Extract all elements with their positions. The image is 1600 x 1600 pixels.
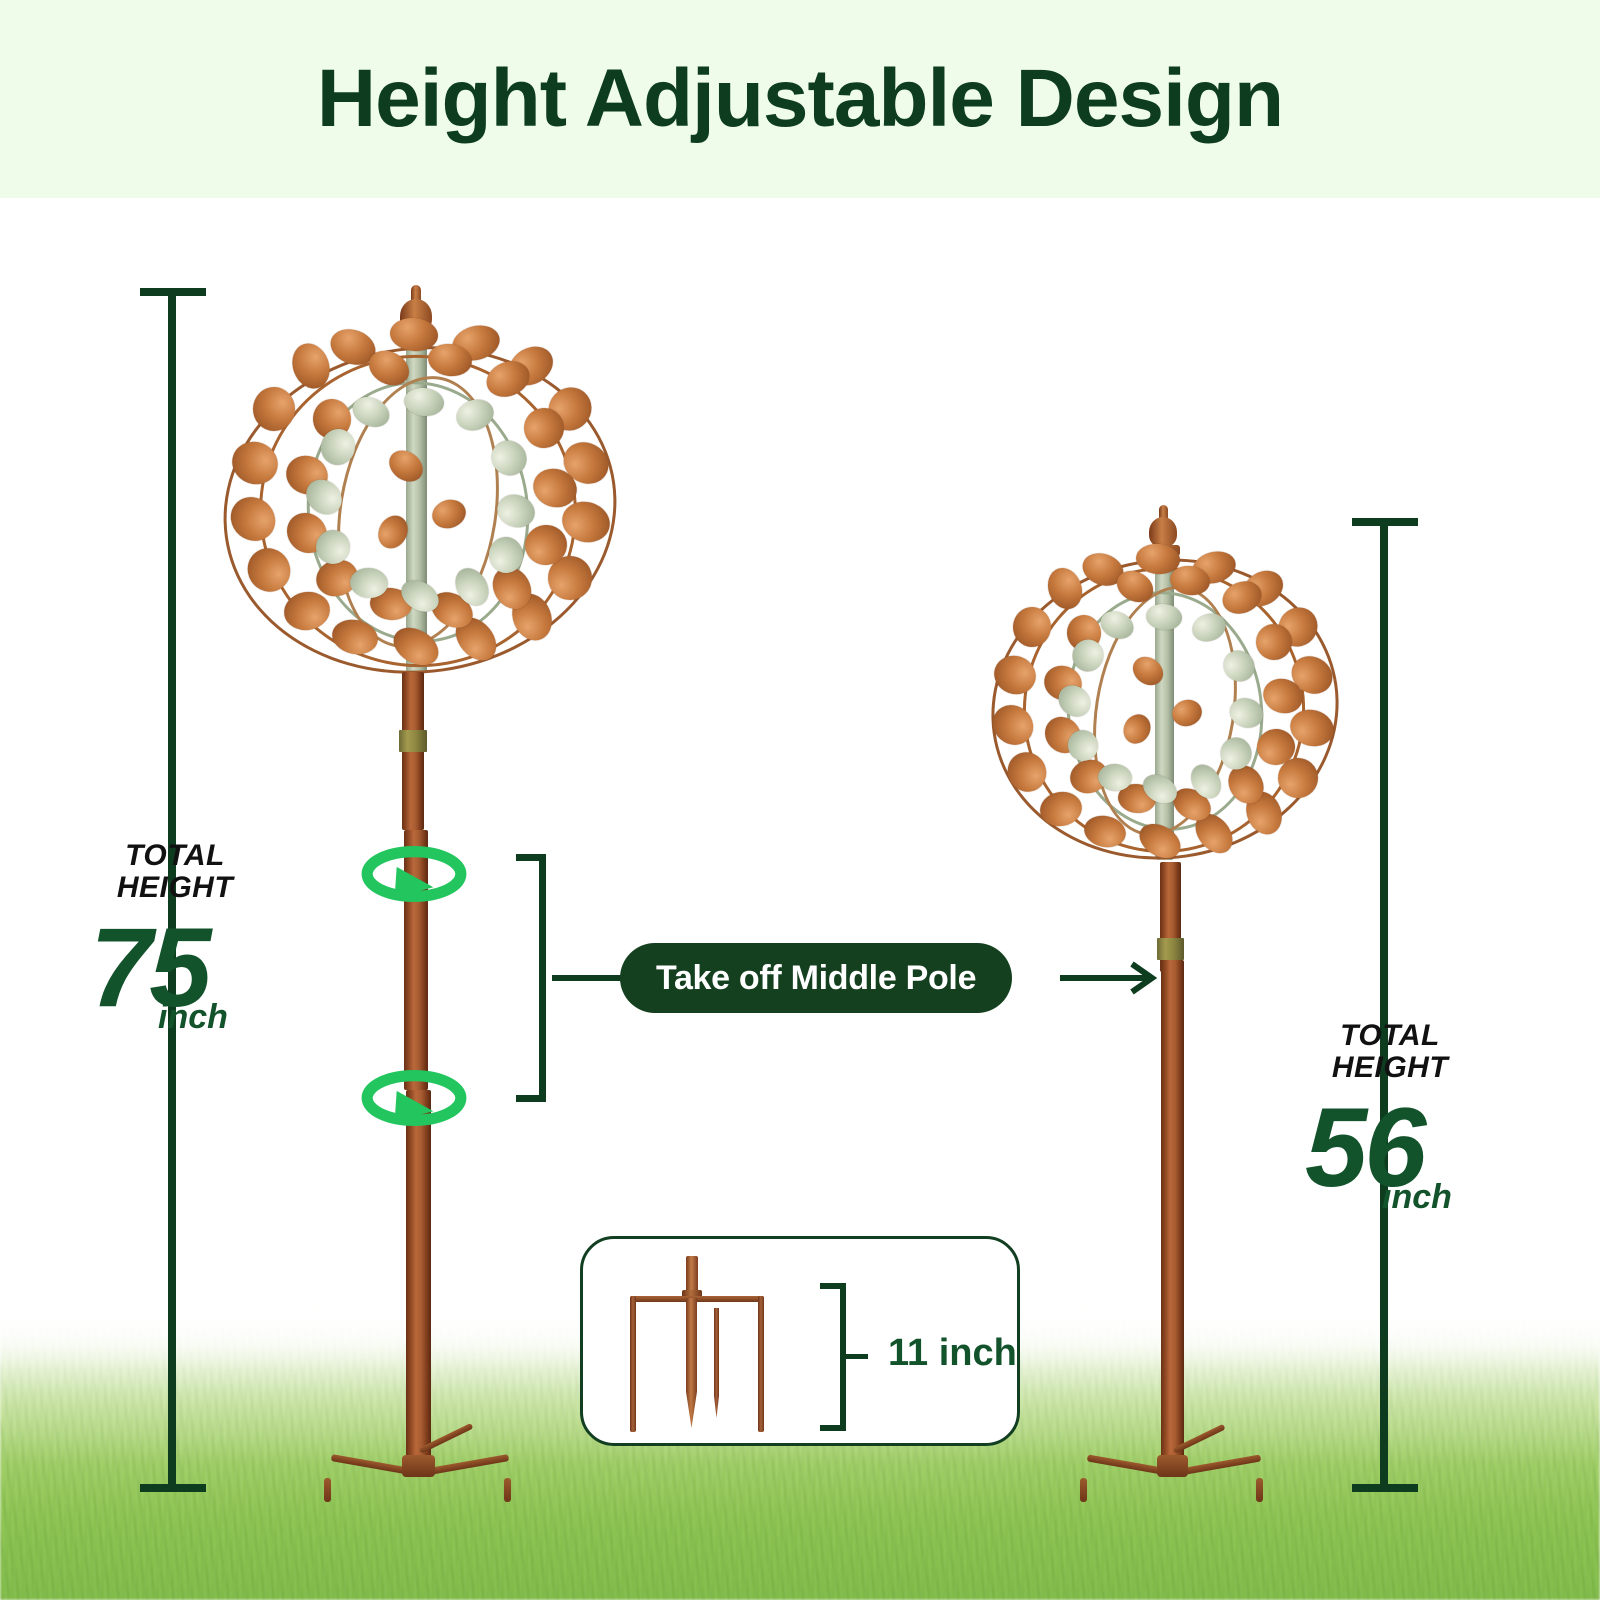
right-pole-lower — [1161, 960, 1184, 1460]
right-total-label-line2: HEIGHT — [1332, 1051, 1448, 1084]
take-off-middle-pole-badge[interactable]: Take off Middle Pole — [620, 943, 1012, 1013]
left-pole-collar — [399, 730, 427, 752]
inset-bracket-tick — [846, 1354, 868, 1359]
right-height-unit: inch — [1382, 1180, 1452, 1214]
right-base-leg-right-tip — [1256, 1478, 1263, 1502]
stake-crossbar — [630, 1296, 764, 1302]
stake-leg-left — [630, 1296, 636, 1432]
left-total-label-line2: HEIGHT — [117, 871, 233, 904]
right-total-label-line1: TOTAL — [1340, 1019, 1440, 1052]
left-height-unit: inch — [158, 1000, 228, 1034]
right-base-hub — [1157, 1455, 1188, 1477]
stake-inner-prong — [714, 1308, 719, 1418]
badge-label: Take off Middle Pole — [656, 959, 976, 998]
right-total-height-label: TOTAL HEIGHT — [1295, 1020, 1485, 1084]
right-pole-collar — [1157, 938, 1184, 960]
inset-bracket-bottom-arm — [820, 1425, 846, 1431]
stake-leg-right — [758, 1296, 764, 1432]
right-base-leg-left-tip — [1080, 1478, 1087, 1502]
left-total-label-line1: TOTAL — [125, 839, 225, 872]
left-total-height-label: TOTAL HEIGHT — [80, 840, 270, 904]
right-dimension-vertical — [1380, 518, 1388, 1492]
left-dimension-cap-bottom — [140, 1484, 206, 1492]
rotate-icon-top — [358, 838, 470, 910]
rotate-icon-bottom — [358, 1062, 470, 1134]
right-finial-bulb — [1149, 517, 1177, 547]
bracket-spine — [539, 854, 546, 1102]
inset-measure-label: 11 inch — [888, 1332, 1017, 1375]
left-base-leg-left-tip — [324, 1478, 331, 1502]
stake-top-shaft — [686, 1256, 698, 1292]
bracket-bottom-arm — [516, 1095, 546, 1102]
header-band: Height Adjustable Design — [0, 0, 1600, 198]
left-base-hub — [402, 1455, 435, 1477]
left-base-leg-right-tip — [504, 1478, 511, 1502]
arrow-to-right-product — [1060, 958, 1160, 998]
right-dimension-cap-bottom — [1352, 1484, 1418, 1492]
left-pole-lower — [406, 1090, 431, 1460]
middle-pole-bracket — [516, 854, 556, 1102]
page-title: Height Adjustable Design — [317, 58, 1283, 140]
